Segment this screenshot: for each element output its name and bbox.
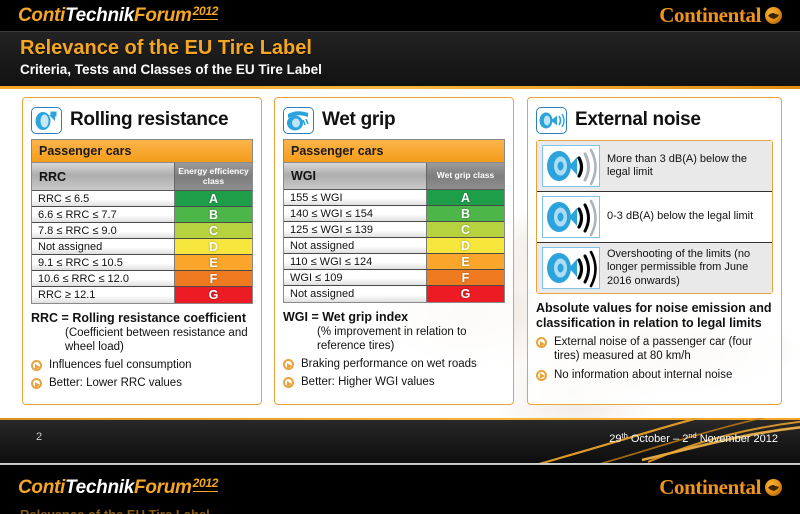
rolling-resistance-table: Passenger cars RRC Energy efficiency cla… xyxy=(31,139,253,304)
panel-header-external-noise: External noise xyxy=(536,104,773,136)
title-block: Relevance of the EU Tire Label Criteria,… xyxy=(0,31,800,86)
bullet-item: Influences fuel consumption xyxy=(31,358,253,372)
row-class-badge: B xyxy=(426,206,504,221)
next-conti-technik-forum-logo: ContiTechnikForum2012 xyxy=(18,476,218,499)
row-label: Not assigned xyxy=(32,239,174,254)
row-class-badge: D xyxy=(174,239,252,254)
wet-grip-table: Passenger cars WGI Wet grip class 155 ≤ … xyxy=(283,139,505,303)
footer-date-end: November 2012 xyxy=(697,433,778,445)
panel-header-wet-grip: Wet grip xyxy=(283,104,505,136)
continental-logo: Continental xyxy=(659,3,782,28)
row-class-badge: F xyxy=(174,271,252,286)
bullet-arrow-icon xyxy=(31,378,42,389)
bullet-item: Braking performance on wet roads xyxy=(283,357,505,371)
tire-noise-2-wave-icon xyxy=(542,196,600,238)
panel-external-noise: External noise More than 3 dB(A) below t… xyxy=(527,97,782,405)
row-label: 125 ≤ WGI ≤ 139 xyxy=(284,222,426,237)
table-top-header: Passenger cars xyxy=(32,140,252,163)
noise-class-rows: More than 3 dB(A) below the legal limit … xyxy=(536,140,773,294)
footer-date-middle: October – 2 xyxy=(628,433,689,445)
row-class-badge: D xyxy=(426,238,504,253)
horse-emblem-icon xyxy=(765,7,782,24)
row-label: 9.1 ≤ RRC ≤ 10.5 xyxy=(32,255,174,270)
panel-rolling-resistance: Rolling resistance Passenger cars RRC En… xyxy=(22,97,262,405)
bullet-item: No information about internal noise xyxy=(536,368,773,382)
external-noise-bullets: External noise of a passenger car (four … xyxy=(536,335,773,382)
row-label: Not assigned xyxy=(284,238,426,253)
next-slide-title: Relevance of the EU Tire Label xyxy=(20,507,210,514)
row-label: 155 ≤ WGI xyxy=(284,190,426,205)
bullet-item: Better: Higher WGI values xyxy=(283,375,505,389)
row-class-badge: C xyxy=(426,222,504,237)
logo-part-forum: Forum xyxy=(134,5,192,26)
noise-row: More than 3 dB(A) below the legal limit xyxy=(537,141,772,192)
page-title: Relevance of the EU Tire Label xyxy=(20,37,312,60)
row-label: 140 ≤ WGI ≤ 154 xyxy=(284,206,426,221)
logo-part-forum: Forum xyxy=(134,477,192,498)
table-row: RRC ≥ 12.1G xyxy=(32,287,252,303)
table-row: Not assignedD xyxy=(284,238,504,254)
row-class-badge: A xyxy=(426,190,504,205)
table-row: RRC ≤ 6.5A xyxy=(32,191,252,207)
row-label: WGI ≤ 109 xyxy=(284,270,426,285)
table-column-headers: RRC Energy efficiency class xyxy=(32,163,252,191)
column-header-wgi: WGI xyxy=(284,163,426,189)
bullet-text: Braking performance on wet roads xyxy=(301,357,477,371)
row-class-badge: E xyxy=(174,255,252,270)
conti-technik-forum-logo: ContiTechnikForum2012 xyxy=(18,4,218,27)
tire-noise-1-wave-icon xyxy=(542,145,600,187)
next-slide-preview: ContiTechnikForum2012 Continental Releva… xyxy=(0,466,800,514)
row-label: 110 ≤ WGI ≤ 124 xyxy=(284,254,426,269)
tire-wet-grip-icon xyxy=(283,107,314,134)
logo-year: 2012 xyxy=(193,4,219,20)
tire-rolling-resistance-icon xyxy=(31,107,62,134)
bullet-arrow-icon xyxy=(536,370,547,381)
noise-row-text: Overshooting of the limits (no longer pe… xyxy=(607,248,767,288)
footer-gloss-strip xyxy=(0,463,800,465)
table-row: 10.6 ≤ RRC ≤ 12.0F xyxy=(32,271,252,287)
slide: ContiTechnikForum2012 Continental Releva… xyxy=(0,0,800,514)
row-label: 7.8 ≤ RRC ≤ 9.0 xyxy=(32,223,174,238)
table-row: Not assignedD xyxy=(32,239,252,255)
row-label: Not assigned xyxy=(284,286,426,302)
page-subtitle: Criteria, Tests and Classes of the EU Ti… xyxy=(20,62,322,77)
continental-wordmark: Continental xyxy=(659,475,761,500)
bullet-text: Influences fuel consumption xyxy=(49,358,192,372)
wet-grip-rows: 155 ≤ WGIA140 ≤ WGI ≤ 154B125 ≤ WGI ≤ 13… xyxy=(284,190,504,302)
next-slide-brand-bar: ContiTechnikForum2012 Continental xyxy=(0,472,800,503)
row-class-badge: A xyxy=(174,191,252,206)
noise-row-text: 0-3 dB(A) below the legal limit xyxy=(607,210,753,223)
row-class-badge: C xyxy=(174,223,252,238)
bullet-arrow-icon xyxy=(31,360,42,371)
row-class-badge: F xyxy=(426,270,504,285)
tire-noise-icon xyxy=(536,107,567,134)
row-label: RRC ≥ 12.1 xyxy=(32,287,174,303)
row-label: RRC ≤ 6.5 xyxy=(32,191,174,206)
bullet-arrow-icon xyxy=(536,337,547,348)
logo-part-technik: Technik xyxy=(65,477,134,498)
logo-part-technik: Technik xyxy=(65,5,134,26)
bullet-item: External noise of a passenger car (four … xyxy=(536,335,773,364)
tire-noise-3-wave-icon xyxy=(542,247,600,289)
noise-row: Overshooting of the limits (no longer pe… xyxy=(537,243,772,293)
row-label: 6.6 ≤ RRC ≤ 7.7 xyxy=(32,207,174,222)
bullet-arrow-icon xyxy=(283,377,294,388)
noise-definition-title: Absolute values for noise emission and c… xyxy=(536,301,773,331)
panel-wet-grip: Wet grip Passenger cars WGI Wet grip cla… xyxy=(274,97,514,405)
table-row: 140 ≤ WGI ≤ 154B xyxy=(284,206,504,222)
table-row: 125 ≤ WGI ≤ 139C xyxy=(284,222,504,238)
row-class-badge: G xyxy=(426,286,504,302)
logo-part-conti: Conti xyxy=(18,477,65,498)
row-class-badge: B xyxy=(174,207,252,222)
footer-date-day1: 29 xyxy=(609,433,621,445)
column-header-energy-class: Energy efficiency class xyxy=(174,163,252,190)
panel-title-external-noise: External noise xyxy=(575,109,701,131)
rolling-resistance-bullets: Influences fuel consumptionBetter: Lower… xyxy=(31,358,253,391)
table-top-header: Passenger cars xyxy=(284,140,504,163)
noise-row: 0-3 dB(A) below the legal limit xyxy=(537,192,772,243)
next-continental-logo: Continental xyxy=(659,475,782,500)
slide-footer: 2 29th October – 2nd November 2012 xyxy=(0,418,800,465)
table-row: WGI ≤ 109F xyxy=(284,270,504,286)
table-column-headers: WGI Wet grip class xyxy=(284,163,504,190)
table-row: 7.8 ≤ RRC ≤ 9.0C xyxy=(32,223,252,239)
column-header-wet-grip-class: Wet grip class xyxy=(426,163,504,189)
rolling-resistance-rows: RRC ≤ 6.5A6.6 ≤ RRC ≤ 7.7B7.8 ≤ RRC ≤ 9.… xyxy=(32,191,252,303)
row-label: 10.6 ≤ RRC ≤ 12.0 xyxy=(32,271,174,286)
table-row: Not assignedG xyxy=(284,286,504,302)
rrc-definition-title: RRC = Rolling resistance coefficient xyxy=(31,311,253,326)
wet-grip-bullets: Braking performance on wet roadsBetter: … xyxy=(283,357,505,390)
bullet-text: External noise of a passenger car (four … xyxy=(554,335,773,364)
bullet-text: Better: Lower RRC values xyxy=(49,376,182,390)
noise-row-text: More than 3 dB(A) below the legal limit xyxy=(607,153,767,180)
continental-wordmark: Continental xyxy=(659,3,761,28)
bullet-item: Better: Lower RRC values xyxy=(31,376,253,390)
panel-header-rolling-resistance: Rolling resistance xyxy=(31,104,253,136)
row-class-badge: G xyxy=(174,287,252,303)
footer-date: 29th October – 2nd November 2012 xyxy=(609,431,778,445)
rrc-definition-sub: (Coefficient between resistance and whee… xyxy=(65,326,253,354)
logo-year: 2012 xyxy=(193,476,219,492)
horse-emblem-icon xyxy=(765,479,782,496)
brand-bar: ContiTechnikForum2012 Continental xyxy=(0,0,800,31)
column-header-rrc: RRC xyxy=(32,163,174,190)
content-area: Rolling resistance Passenger cars RRC En… xyxy=(0,89,800,418)
wgi-definition-title: WGI = Wet grip index xyxy=(283,310,505,325)
panel-title-rolling-resistance: Rolling resistance xyxy=(70,109,228,131)
bullet-arrow-icon xyxy=(283,359,294,370)
footer-date-sup2: nd xyxy=(688,431,696,440)
bullet-text: No information about internal noise xyxy=(554,368,732,382)
bullet-text: Better: Higher WGI values xyxy=(301,375,435,389)
table-row: 6.6 ≤ RRC ≤ 7.7B xyxy=(32,207,252,223)
logo-part-conti: Conti xyxy=(18,5,65,26)
table-row: 9.1 ≤ RRC ≤ 10.5E xyxy=(32,255,252,271)
page-number: 2 xyxy=(36,431,42,443)
wgi-definition-sub: (% improvement in relation to reference … xyxy=(317,325,505,353)
table-row: 155 ≤ WGIA xyxy=(284,190,504,206)
panel-title-wet-grip: Wet grip xyxy=(322,109,395,131)
row-class-badge: E xyxy=(426,254,504,269)
table-row: 110 ≤ WGI ≤ 124E xyxy=(284,254,504,270)
